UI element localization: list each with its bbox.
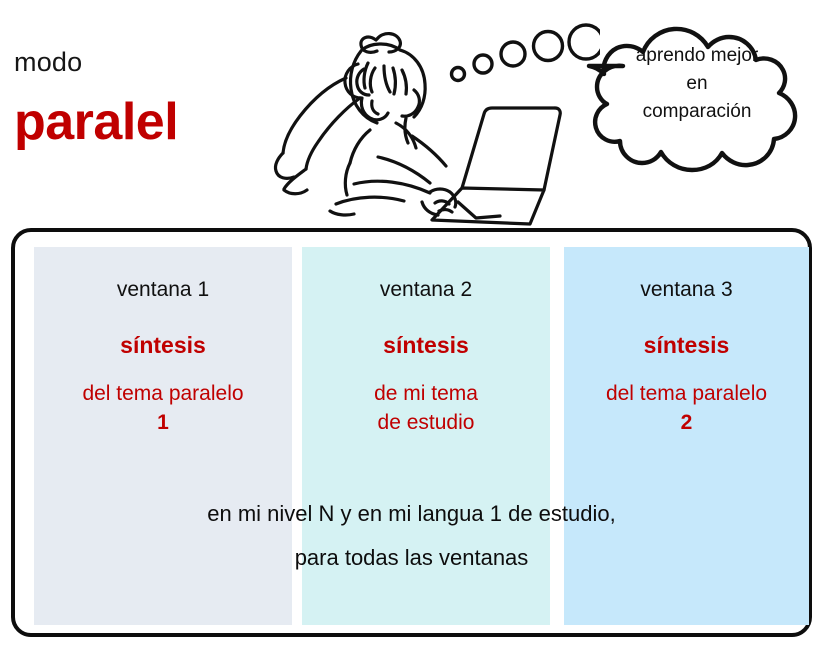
column-1-synthesis-label: síntesis <box>34 331 292 359</box>
column-2-description: de mi tema de estudio <box>302 379 550 437</box>
column-2-description-line-2: de estudio <box>378 411 475 434</box>
mode-label: modo <box>14 46 82 78</box>
column-3-synthesis-label: síntesis <box>564 331 809 359</box>
window-column-2[interactable]: ventana 2 síntesis de mi tema de estudio <box>302 247 550 625</box>
column-3-heading: ventana 3 <box>564 277 809 303</box>
thought-cloud-line-2: en <box>686 73 707 94</box>
column-3-description: del tema paralelo 2 <box>564 379 809 437</box>
column-2-heading: ventana 2 <box>302 277 550 303</box>
window-column-1[interactable]: ventana 1 síntesis del tema paralelo 1 <box>34 247 292 625</box>
column-3-description-line-1: del tema paralelo <box>606 382 767 405</box>
header-area: modo paralel <box>0 0 834 228</box>
column-2-synthesis-label: síntesis <box>302 331 550 359</box>
columns-container: ventana 1 síntesis del tema paralelo 1 v… <box>15 232 816 641</box>
column-3-description-line-2: 2 <box>681 411 693 434</box>
mode-title: paralel <box>14 92 178 152</box>
column-1-description: del tema paralelo 1 <box>34 379 292 437</box>
thought-cloud-text: aprendo mejor en comparación <box>592 42 802 126</box>
column-1-description-line-1: del tema paralelo <box>82 382 243 405</box>
window-column-3[interactable]: ventana 3 síntesis del tema paralelo 2 <box>564 247 809 625</box>
windows-panel: ventana 1 síntesis del tema paralelo 1 v… <box>11 228 812 637</box>
column-1-heading: ventana 1 <box>34 277 292 303</box>
thought-cloud-line-1: aprendo mejor <box>636 45 759 66</box>
column-2-description-line-1: de mi tema <box>374 382 478 405</box>
column-1-description-line-2: 1 <box>157 411 169 434</box>
thought-cloud-line-3: comparación <box>643 101 752 122</box>
